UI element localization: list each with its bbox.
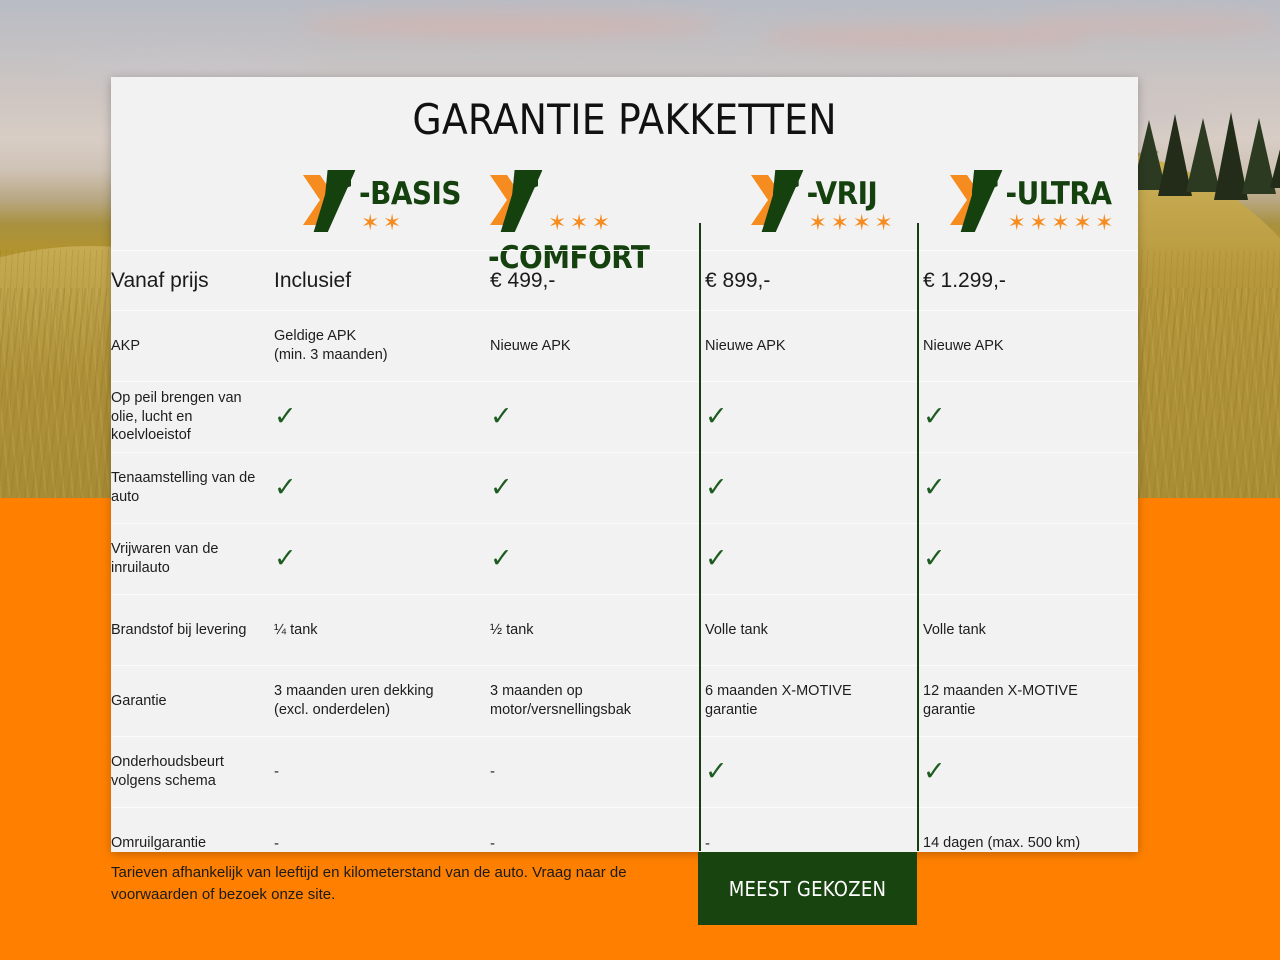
- cell-value: Nieuwe APK: [490, 338, 571, 354]
- cell-value: 3 maanden opmotor/versnellingsbak: [490, 683, 631, 718]
- package-header-ultra[interactable]: -ULTRA ✶ ✶ ✶ ✶ ✶: [923, 150, 1138, 250]
- cloud-streak: [1020, 14, 1280, 34]
- table-cell: ✓: [923, 545, 1138, 573]
- table-row: Tenaamstelling van de auto✓✓✓✓: [111, 452, 1138, 523]
- table-cell: ✓: [274, 545, 490, 573]
- cell-value: Volle tank: [705, 622, 768, 638]
- logo-label-basis: -BASIS: [359, 176, 461, 212]
- table-row: Op peil brengen van olie, lucht en koelv…: [111, 381, 1138, 452]
- logo-x-basis: -BASIS ✶ ✶: [303, 168, 461, 232]
- pricing-card: GARANTIE PAKKETTEN -BASIS ✶ ✶: [111, 77, 1138, 852]
- check-icon: ✓: [923, 472, 946, 502]
- logo-label-ultra: -ULTRA: [1006, 176, 1112, 212]
- page-root: GARANTIE PAKKETTEN -BASIS ✶ ✶: [0, 0, 1280, 960]
- table-cell: € 1.299,-: [923, 269, 1138, 293]
- table-cell: 3 maanden uren dekking(excl. onderdelen): [274, 682, 490, 719]
- x-mark-icon: [751, 168, 809, 232]
- x-mark-icon: [490, 168, 548, 232]
- table-cell: ✓: [705, 403, 923, 431]
- check-icon: ✓: [490, 472, 513, 502]
- cell-value: 14 dagen (max. 500 km): [923, 835, 1080, 851]
- table-row: AKPGeldige APK(min. 3 maanden)Nieuwe APK…: [111, 310, 1138, 381]
- table-cell: ✓: [274, 474, 490, 502]
- cell-value: 12 maanden X-MOTIVEgarantie: [923, 683, 1078, 718]
- cell-value: Inclusief: [274, 269, 351, 292]
- row-label: Vanaf prijs: [111, 269, 274, 293]
- check-icon: ✓: [705, 756, 728, 786]
- table-cell: ¼ tank: [274, 621, 490, 640]
- table-cell: ✓: [490, 545, 705, 573]
- row-label: Brandstof bij levering: [111, 621, 274, 640]
- table-cell: 3 maanden opmotor/versnellingsbak: [490, 682, 705, 719]
- table-cell: 6 maanden X-MOTIVEgarantie: [705, 682, 923, 719]
- table-cell: -: [490, 834, 705, 854]
- row-label: Onderhoudsbeurt volgens schema: [111, 753, 274, 790]
- column-divider-ultra: [917, 223, 919, 851]
- check-icon: ✓: [274, 401, 297, 431]
- table-cell: -: [705, 834, 923, 854]
- cell-value: Nieuwe APK: [923, 338, 1004, 354]
- check-icon: ✓: [923, 543, 946, 573]
- logo-x-comfort: -COMFORT ✶ ✶ ✶: [490, 168, 705, 232]
- footer-disclaimer: Tarieven afhankelijk van leeftijd en kil…: [111, 862, 691, 906]
- table-cell: ✓: [923, 403, 1138, 431]
- table-cell: ✓: [490, 403, 705, 431]
- cloud-streak: [60, 56, 320, 74]
- cell-value: 6 maanden X-MOTIVEgarantie: [705, 683, 852, 718]
- not-included-dash: -: [274, 763, 279, 780]
- table-cell: Nieuwe APK: [705, 337, 923, 356]
- logo-label-vrij: -VRIJ: [807, 176, 878, 212]
- cell-value: € 1.299,-: [923, 269, 1006, 292]
- rating-stars-comfort: ✶ ✶ ✶: [548, 212, 609, 234]
- cell-value: ½ tank: [490, 622, 534, 638]
- check-icon: ✓: [923, 401, 946, 431]
- comparison-table: Vanaf prijsInclusief€ 499,-€ 899,-€ 1.29…: [111, 250, 1138, 879]
- cell-value: € 499,-: [490, 269, 555, 292]
- most-chosen-badge[interactable]: MEEST GEKOZEN: [698, 852, 917, 925]
- package-header-comfort[interactable]: -COMFORT ✶ ✶ ✶: [490, 150, 705, 250]
- table-cell: Volle tank: [705, 621, 923, 640]
- check-icon: ✓: [705, 472, 728, 502]
- check-icon: ✓: [490, 543, 513, 573]
- cell-value: Nieuwe APK: [705, 338, 786, 354]
- cell-value: € 899,-: [705, 269, 770, 292]
- check-icon: ✓: [274, 472, 297, 502]
- cell-value: ¼ tank: [274, 622, 318, 638]
- row-label: AKP: [111, 337, 274, 356]
- table-cell: Volle tank: [923, 621, 1138, 640]
- page-title: GARANTIE PAKKETTEN: [111, 77, 1138, 144]
- table-row: Vrijwaren van de inruilauto✓✓✓✓: [111, 523, 1138, 594]
- table-cell: Geldige APK(min. 3 maanden): [274, 327, 490, 364]
- row-label: Tenaamstelling van de auto: [111, 469, 274, 506]
- not-included-dash: -: [490, 763, 495, 780]
- check-icon: ✓: [705, 401, 728, 431]
- x-mark-icon: [303, 168, 361, 232]
- rating-stars-ultra: ✶ ✶ ✶ ✶ ✶: [1008, 212, 1113, 234]
- table-cell: ✓: [705, 474, 923, 502]
- package-header-basis[interactable]: -BASIS ✶ ✶: [274, 150, 490, 250]
- check-icon: ✓: [705, 543, 728, 573]
- table-row: Vanaf prijsInclusief€ 499,-€ 899,-€ 1.29…: [111, 250, 1138, 310]
- check-icon: ✓: [274, 543, 297, 573]
- table-cell: 12 maanden X-MOTIVEgarantie: [923, 682, 1138, 719]
- table-cell: € 899,-: [705, 269, 923, 293]
- table-row: Garantie3 maanden uren dekking(excl. ond…: [111, 665, 1138, 736]
- package-header-row: -BASIS ✶ ✶ -COMFORT: [111, 150, 1138, 250]
- not-included-dash: -: [490, 835, 495, 852]
- row-label: Garantie: [111, 692, 274, 711]
- table-cell: ✓: [923, 474, 1138, 502]
- row-label: Omruilgarantie: [111, 834, 274, 853]
- logo-x-vrij: -VRIJ ✶ ✶ ✶ ✶: [751, 168, 878, 232]
- cell-value: Volle tank: [923, 622, 986, 638]
- check-icon: ✓: [490, 401, 513, 431]
- x-mark-icon: [950, 168, 1008, 232]
- logo-x-ultra: -ULTRA ✶ ✶ ✶ ✶ ✶: [950, 168, 1112, 232]
- table-cell: Inclusief: [274, 269, 490, 293]
- table-cell: Nieuwe APK: [490, 337, 705, 356]
- table-row: Brandstof bij levering¼ tank½ tankVolle …: [111, 594, 1138, 665]
- tree-line: [1130, 96, 1280, 212]
- column-divider-vrij: [699, 223, 701, 851]
- table-cell: -: [274, 834, 490, 854]
- cell-value: Geldige APK(min. 3 maanden): [274, 328, 388, 363]
- cloud-streak: [300, 12, 720, 38]
- table-cell: ✓: [490, 474, 705, 502]
- row-label: Vrijwaren van de inruilauto: [111, 540, 274, 577]
- not-included-dash: -: [705, 835, 710, 852]
- table-row: Onderhoudsbeurt volgens schema--✓✓: [111, 736, 1138, 807]
- table-cell: 14 dagen (max. 500 km): [923, 834, 1138, 853]
- table-cell: € 499,-: [490, 269, 705, 293]
- rating-stars-vrij: ✶ ✶ ✶ ✶: [809, 212, 892, 234]
- package-header-vrij[interactable]: -VRIJ ✶ ✶ ✶ ✶: [705, 150, 923, 250]
- table-cell: -: [274, 762, 490, 782]
- check-icon: ✓: [923, 756, 946, 786]
- table-cell: -: [490, 762, 705, 782]
- table-cell: ½ tank: [490, 621, 705, 640]
- rating-stars-basis: ✶ ✶: [361, 212, 400, 234]
- table-cell: ✓: [923, 758, 1138, 786]
- row-label: Op peil brengen van olie, lucht en koelv…: [111, 389, 274, 445]
- not-included-dash: -: [274, 835, 279, 852]
- cell-value: 3 maanden uren dekking(excl. onderdelen): [274, 683, 434, 718]
- table-cell: ✓: [274, 403, 490, 431]
- table-cell: ✓: [705, 545, 923, 573]
- table-cell: Nieuwe APK: [923, 337, 1138, 356]
- table-cell: ✓: [705, 758, 923, 786]
